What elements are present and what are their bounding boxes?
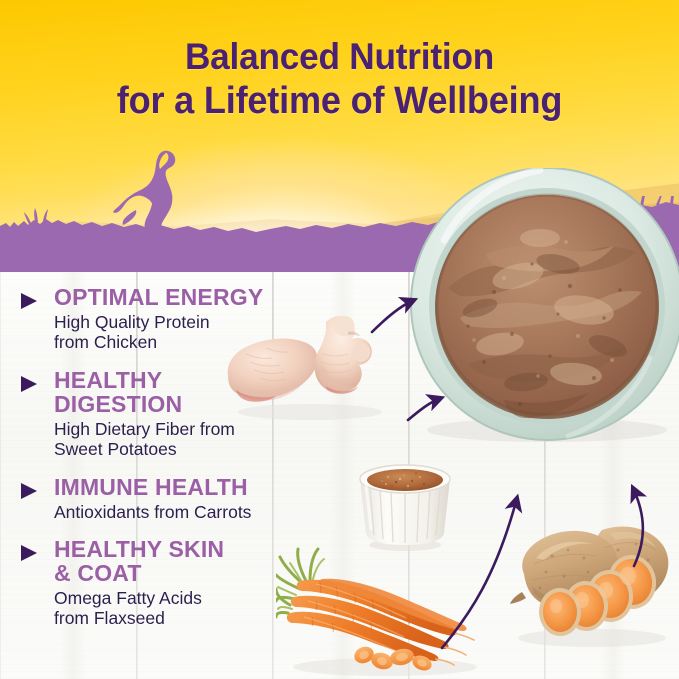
triangle-right-icon (18, 542, 40, 564)
headline-line-2: for a Lifetime of Wellbeing (17, 79, 662, 123)
headline-line-1: Balanced Nutrition (185, 36, 494, 77)
flaxseed-ramekin-photo (352, 455, 458, 551)
benefit-item-immune-health: IMMUNE HEALTH Antioxidants from Carrots (18, 476, 336, 522)
triangle-right-icon (18, 290, 40, 312)
carrots-photo (276, 543, 494, 679)
dog-silhouette-icon (112, 146, 198, 236)
page-title: Balanced Nutrition for a Lifetime of Wel… (17, 36, 662, 123)
triangle-right-icon (18, 480, 40, 502)
benefit-title: IMMUNE HEALTH (54, 476, 336, 500)
sweet-potato-photo (506, 500, 678, 650)
benefit-description: High Dietary Fiber from Sweet Potatoes (54, 419, 336, 460)
benefit-description: Antioxidants from Carrots (54, 502, 336, 522)
triangle-right-icon (18, 373, 40, 395)
dog-food-bowl-photo (408, 168, 679, 446)
advertisement-image: Balanced Nutrition for a Lifetime of Wel… (0, 0, 679, 679)
chicken-photo (222, 302, 394, 420)
